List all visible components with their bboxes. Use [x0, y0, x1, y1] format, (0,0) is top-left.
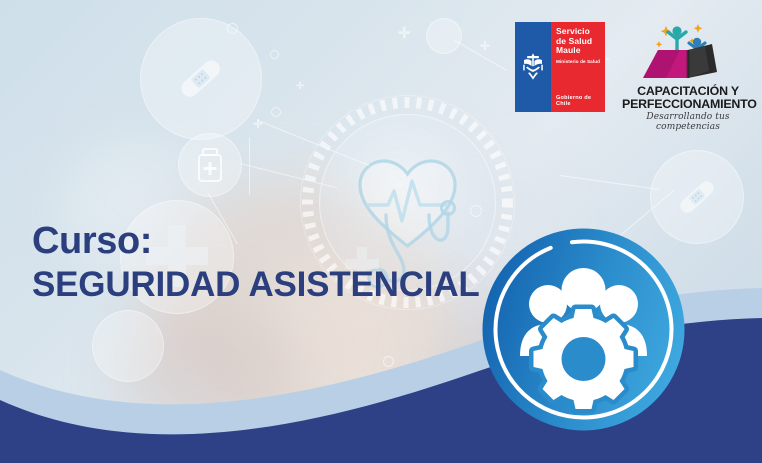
minsal-logo: Servicio de Salud Maule Ministerio de Sa… [515, 22, 605, 112]
decorative-bubble [426, 18, 462, 54]
decorative-ring-icon [470, 205, 482, 217]
course-name: SEGURIDAD ASISTENCIAL [32, 265, 480, 304]
decorative-ring-icon [271, 107, 281, 117]
medical-cross-icon: ✛ [480, 40, 490, 52]
minsal-footer: Gobierno de Chile [556, 95, 605, 107]
bandage-icon [140, 18, 262, 140]
minsal-title: Servicio de Salud Maule [556, 27, 592, 56]
course-label: Curso: [32, 222, 480, 262]
medical-cross-icon: ✛ [253, 118, 263, 130]
decorative-ring-icon [227, 23, 238, 34]
capacitacion-slogan: Desarrollando tus competencias [622, 112, 754, 132]
capacitacion-title-line2: PERFECCIONAMIENTO [622, 98, 754, 111]
page-title: Curso: SEGURIDAD ASISTENCIAL [32, 222, 480, 304]
minsal-subtitle: Ministerio de Salud [556, 59, 600, 64]
book-with-people-icon [622, 18, 754, 85]
people-gear-icon [482, 228, 685, 431]
course-banner: ✛ ✛ ✛ ✛ ✛ Curso: SEGURIDAD ASISTENCIAL [0, 0, 762, 463]
medical-cross-icon: ✛ [296, 82, 304, 92]
medical-cross-icon: ✛ [398, 26, 411, 41]
chile-coat-of-arms-icon [515, 22, 551, 112]
capacitacion-logo: CAPACITACIÓN Y PERFECCIONAMIENTO Desarro… [622, 18, 754, 118]
minsal-logo-text: Servicio de Salud Maule Ministerio de Sa… [551, 22, 605, 112]
minsal-title-line3: Maule [556, 46, 592, 56]
medicine-bottle-icon [178, 133, 242, 197]
connector-line [560, 175, 659, 190]
decorative-ring-icon [270, 50, 279, 59]
